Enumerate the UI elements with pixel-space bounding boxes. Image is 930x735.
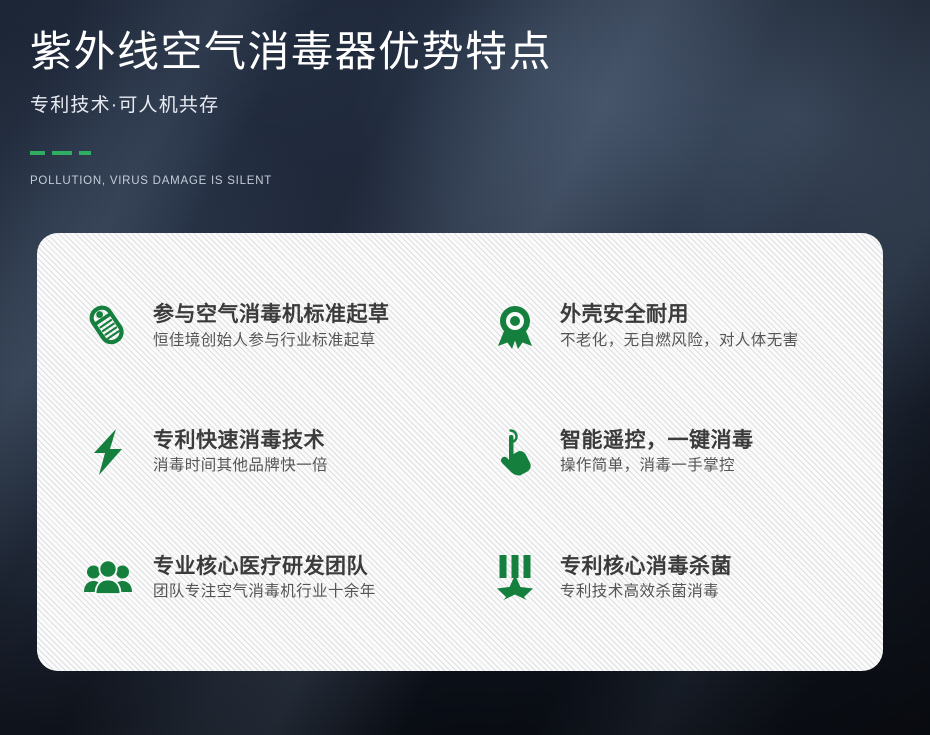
feature-item: 专利快速消毒技术 消毒时间其他品牌快一倍 — [83, 390, 478, 516]
lightning-bolt-icon — [83, 426, 133, 478]
feature-title: 专利核心消毒杀菌 — [560, 555, 732, 579]
feature-item: 智能遥控，一键消毒 操作简单，消毒一手掌控 — [478, 390, 873, 516]
feature-title: 外壳安全耐用 — [560, 303, 799, 327]
document-draft-icon — [83, 301, 133, 353]
feature-item: 专利核心消毒杀菌 专利技术高效杀菌消毒 — [478, 515, 873, 641]
page-title: 紫外线空气消毒器优势特点 — [30, 28, 790, 76]
feature-title: 专利快速消毒技术 — [153, 429, 328, 453]
dash-segment-2 — [52, 151, 72, 155]
feature-text: 外壳安全耐用 不老化，无自燃风险，对人体无害 — [560, 303, 799, 350]
feature-description: 消毒时间其他品牌快一倍 — [153, 457, 328, 476]
feature-text: 专业核心医疗研发团队 团队专注空气消毒机行业十余年 — [153, 555, 376, 602]
people-group-icon — [83, 552, 133, 604]
feature-text: 智能遥控，一键消毒 操作简单，消毒一手掌控 — [560, 429, 754, 476]
dash-divider — [30, 151, 790, 156]
feature-description: 专利技术高效杀菌消毒 — [560, 583, 732, 602]
feature-grid: 参与空气消毒机标准起草 恒佳境创始人参与行业标准起草 外壳安全耐用 不老化，无自… — [37, 233, 883, 671]
medal-rosette-icon — [490, 301, 540, 353]
feature-description: 不老化，无自燃风险，对人体无害 — [560, 332, 799, 351]
dash-segment-1 — [30, 151, 45, 155]
feature-description: 团队专注空气消毒机行业十余年 — [153, 583, 376, 602]
feature-text: 专利快速消毒技术 消毒时间其他品牌快一倍 — [153, 429, 328, 476]
english-tagline: POLLUTION, VIRUS DAMAGE IS SILENT — [30, 175, 790, 187]
feature-description: 操作简单，消毒一手掌控 — [560, 457, 754, 476]
feature-title: 参与空气消毒机标准起草 — [153, 303, 390, 327]
medal-star-icon — [490, 552, 540, 604]
dash-segment-3 — [79, 151, 91, 155]
feature-card: 参与空气消毒机标准起草 恒佳境创始人参与行业标准起草 外壳安全耐用 不老化，无自… — [37, 233, 883, 671]
feature-item: 外壳安全耐用 不老化，无自燃风险，对人体无害 — [478, 264, 873, 390]
feature-title: 智能遥控，一键消毒 — [560, 429, 754, 453]
feature-description: 恒佳境创始人参与行业标准起草 — [153, 332, 390, 351]
feature-text: 参与空气消毒机标准起草 恒佳境创始人参与行业标准起草 — [153, 303, 390, 350]
touch-hand-icon — [490, 426, 540, 478]
page-header: 紫外线空气消毒器优势特点 专利技术·可人机共存 POLLUTION, VIRUS… — [30, 28, 790, 187]
feature-title: 专业核心医疗研发团队 — [153, 555, 376, 579]
feature-item: 专业核心医疗研发团队 团队专注空气消毒机行业十余年 — [83, 515, 478, 641]
page-subtitle: 专利技术·可人机共存 — [30, 90, 790, 117]
feature-text: 专利核心消毒杀菌 专利技术高效杀菌消毒 — [560, 555, 732, 602]
feature-item: 参与空气消毒机标准起草 恒佳境创始人参与行业标准起草 — [83, 264, 478, 390]
